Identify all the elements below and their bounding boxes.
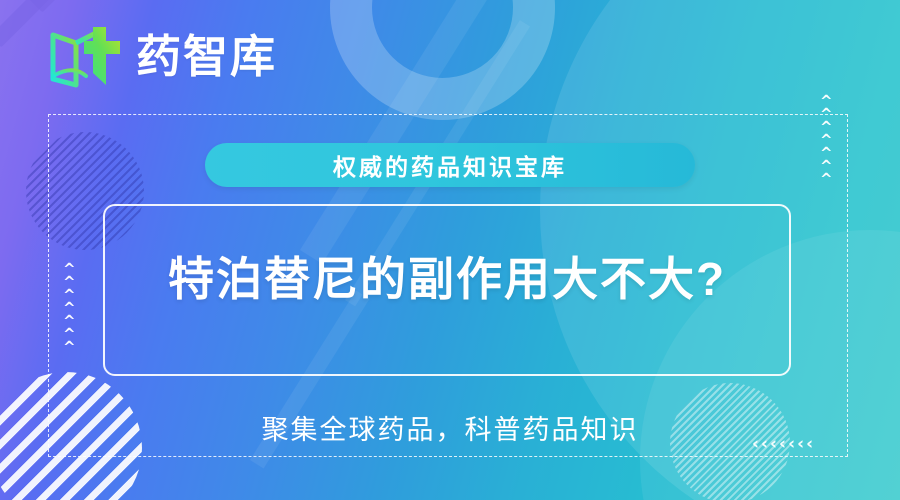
promo-banner: ^ ^ ^ ^ ^ ^ ^ ^ ^ ^ ^ ^ ^ ^ ‹ ‹ ‹ ‹ ‹ ‹ …	[0, 0, 900, 500]
diagonal-stripe-decoration	[24, 0, 163, 12]
chevron-up-icon: ^	[820, 174, 833, 184]
brand-name: 药智库	[136, 34, 277, 79]
page-title: 特泊替尼的副作用大不大?	[103, 252, 791, 307]
chevron-up-icon: ^	[63, 342, 76, 352]
subtitle-text: 权威的药品知识宝库	[333, 148, 567, 182]
chevron-up-column-left: ^ ^ ^ ^ ^ ^ ^	[63, 264, 76, 352]
chevron-up-column-right: ^ ^ ^ ^ ^ ^ ^	[820, 96, 833, 184]
brand-logo[interactable]: 药智库	[46, 23, 277, 89]
open-book-with-cross-icon	[46, 23, 124, 89]
tagline-text: 聚集全球药品，科普药品知识	[0, 408, 900, 447]
subtitle-pill: 权威的药品知识宝库	[205, 143, 695, 187]
